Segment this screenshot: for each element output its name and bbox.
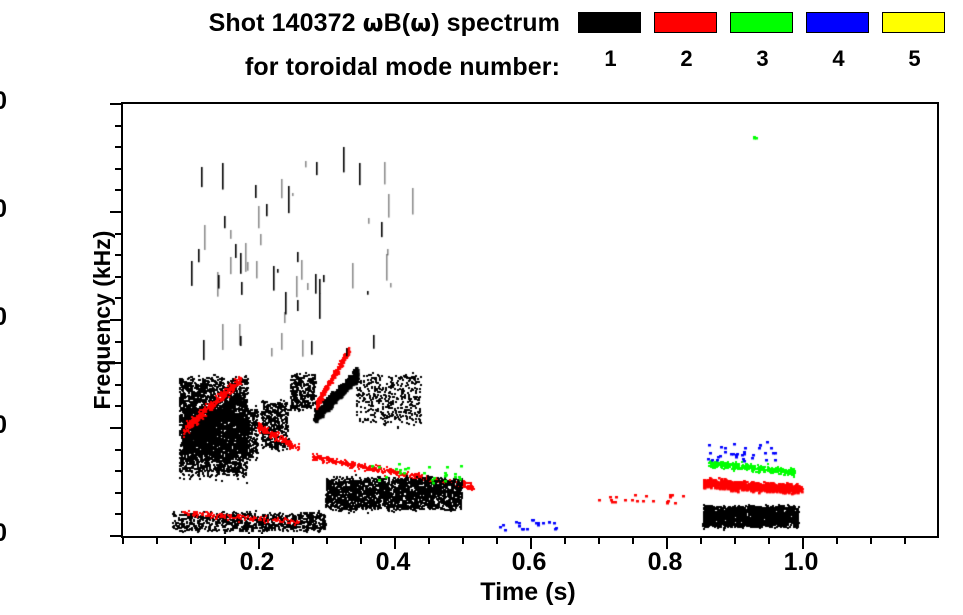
legend-item-5: 5 (882, 12, 947, 72)
y-tick-100 (110, 319, 123, 321)
x-tick-0.65 (564, 536, 566, 544)
y-tick-label-200: 200 (0, 87, 7, 116)
x-axis-title: Time (s) (121, 578, 935, 607)
x-tick-label-0.4: 0.4 (353, 548, 433, 577)
x-tick-0.3 (326, 536, 328, 544)
x-tick-label-0.6: 0.6 (489, 548, 569, 577)
x-tick-0.45 (428, 536, 430, 544)
x-tick-1.15 (904, 536, 906, 544)
y-tick-150 (110, 211, 123, 213)
y-tick-40 (115, 449, 123, 451)
y-tick-140 (115, 233, 123, 235)
y-tick-20 (115, 492, 123, 494)
title-line-1-suffix: ) spectrum (431, 9, 560, 37)
x-tick-0 (122, 536, 124, 544)
plot-axes-frame: Frequency (kHz) (121, 102, 939, 538)
y-tick-120 (115, 276, 123, 278)
y-tick-label-150: 150 (0, 195, 7, 224)
y-tick-label-0: 0 (0, 519, 7, 548)
x-tick-1.1 (870, 536, 872, 544)
y-tick-70 (115, 384, 123, 386)
y-tick-50 (110, 427, 123, 429)
legend-swatch-3 (730, 12, 793, 33)
omega-symbol-2: ω (410, 9, 431, 37)
x-tick-0.85 (700, 536, 702, 544)
y-tick-label-50: 50 (0, 411, 7, 440)
x-tick-0.25 (292, 536, 294, 544)
title-line-2: for toroidal mode number: (0, 52, 560, 82)
x-tick-0.95 (768, 536, 770, 544)
y-tick-200 (110, 103, 123, 105)
legend-label-3: 3 (730, 46, 795, 72)
x-tick-0.75 (632, 536, 634, 544)
y-tick-90 (115, 341, 123, 343)
x-tick-0.7 (598, 536, 600, 544)
title-line-1: Shot 140372 ωB(ω) spectrum (0, 8, 560, 38)
legend-swatch-2 (654, 12, 717, 33)
y-tick-190 (115, 125, 123, 127)
legend-label-5: 5 (882, 46, 947, 72)
legend-item-2: 2 (654, 12, 719, 72)
omega-symbol-1: ω (363, 9, 384, 37)
x-tick-0.9 (734, 536, 736, 544)
x-tick-0.05 (156, 536, 158, 544)
x-tick-0.15 (224, 536, 226, 544)
legend-label-1: 1 (578, 46, 643, 72)
x-tick-label-1.0: 1.0 (761, 548, 841, 577)
x-tick-0.5 (462, 536, 464, 544)
y-tick-30 (115, 470, 123, 472)
legend-swatch-1 (578, 12, 641, 33)
y-tick-110 (115, 297, 123, 299)
x-tick-0.35 (360, 536, 362, 544)
y-tick-160 (115, 189, 123, 191)
y-tick-130 (115, 254, 123, 256)
x-tick-label-0.2: 0.2 (217, 548, 297, 577)
legend-item-1: 1 (578, 12, 643, 72)
x-tick-1.05 (836, 536, 838, 544)
legend-label-2: 2 (654, 46, 719, 72)
title-line-1-mid: B( (384, 9, 411, 37)
legend-swatch-5 (882, 12, 945, 33)
y-tick-170 (115, 168, 123, 170)
legend-item-4: 4 (806, 12, 871, 72)
y-tick-180 (115, 146, 123, 148)
x-tick-0.1 (190, 536, 192, 544)
legend-swatch-4 (806, 12, 869, 33)
spectrogram-figure: Shot 140372 ωB(ω) spectrum for toroidal … (0, 0, 963, 615)
y-tick-60 (115, 405, 123, 407)
legend-item-3: 3 (730, 12, 795, 72)
y-tick-label-100: 100 (0, 303, 7, 332)
x-tick-0.55 (496, 536, 498, 544)
x-tick-label-0.8: 0.8 (625, 548, 705, 577)
y-tick-10 (115, 513, 123, 515)
legend-label-4: 4 (806, 46, 871, 72)
y-tick-80 (115, 362, 123, 364)
title-line-1-prefix: Shot 140372 (209, 9, 363, 37)
